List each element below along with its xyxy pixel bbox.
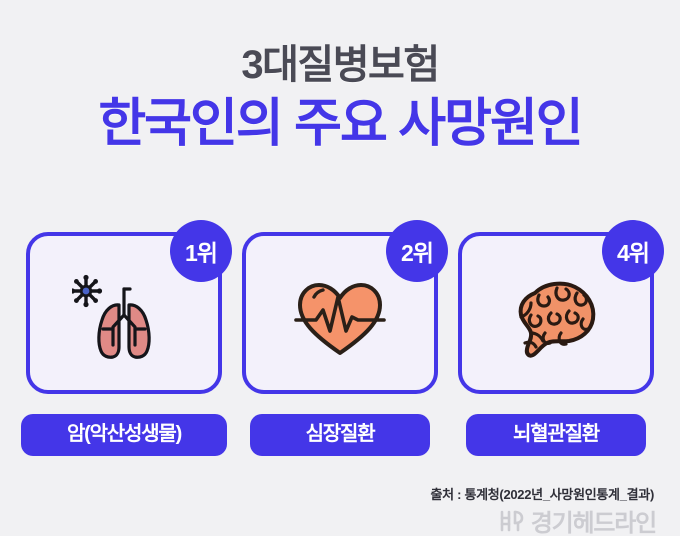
heart-pulse-icon	[286, 267, 394, 367]
card-column-brain: 4위	[458, 232, 654, 456]
lungs-icon	[70, 267, 178, 367]
rank-badge-2: 2위	[386, 220, 448, 282]
disease-card-heart[interactable]: 2위	[242, 232, 438, 394]
cards-row: 1위	[0, 232, 680, 456]
gh-logo-icon	[498, 508, 524, 534]
disease-label-cancer: 암(악산성생물)	[21, 414, 227, 456]
infographic-poster: 3대질병보험 한국인의 주요 사망원인 1위	[0, 0, 680, 536]
source-attribution: 출처 : 통계청(2022년_사망원인통계_결과)	[430, 484, 654, 503]
title-line-secondary: 한국인의 주요 사망원인	[0, 96, 680, 152]
brain-icon	[502, 267, 610, 367]
watermark: 경기헤드라인	[498, 503, 656, 536]
disease-card-cancer[interactable]: 1위	[26, 232, 222, 394]
rank-badge-4: 4위	[602, 220, 664, 282]
rank-badge-1: 1위	[170, 220, 232, 282]
disease-label-brain: 뇌혈관질환	[466, 414, 646, 456]
disease-label-heart: 심장질환	[250, 414, 430, 456]
title-line-primary: 3대질병보험	[0, 44, 680, 87]
watermark-text: 경기헤드라인	[531, 503, 656, 536]
card-column-cancer: 1위	[26, 232, 222, 456]
disease-card-brain[interactable]: 4위	[458, 232, 654, 394]
title-block: 3대질병보험 한국인의 주요 사망원인	[0, 44, 680, 152]
card-column-heart: 2위 심장질환	[242, 232, 438, 456]
